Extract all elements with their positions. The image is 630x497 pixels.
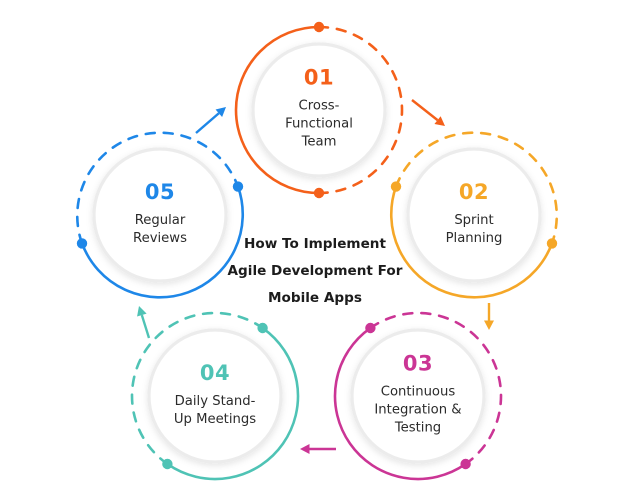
diagram-svg [0,0,630,497]
arrow-02-to-03-head [484,321,494,331]
arrow-04-to-05-head [137,306,147,317]
node-01-inner-circle [253,44,385,176]
node-04-inner-circle [149,330,281,462]
node-05-inner-circle [94,149,226,281]
node-03-dot-1 [365,323,375,333]
node-rings-group [77,22,557,479]
node-01-dot-1 [314,188,324,198]
node-04-dot-2 [257,323,267,333]
arrow-04-to-05 [137,306,149,338]
arrow-02-to-03 [484,303,494,330]
arrow-03-to-04-head [300,444,310,454]
arrow-01-to-02 [412,100,445,126]
arrow-04-to-05-shaft [142,315,149,338]
infographic-canvas: 01 Cross- Functional Team 02 Sprint Plan… [0,0,630,497]
node-02-ring [391,133,557,298]
node-02-inner-circle [408,149,540,281]
node-02-dot-1 [391,181,401,191]
arrow-03-to-04 [300,444,336,454]
node-01-ring [236,22,402,198]
node-03-ring [335,313,501,479]
node-05-ring [77,133,243,298]
node-02-dot-2 [547,238,557,248]
node-05-dot-2 [233,181,243,191]
node-03-dot-2 [460,459,470,469]
node-01-dot-2 [314,22,324,32]
arrow-05-to-01-shaft [196,113,219,133]
node-05-dot-1 [77,238,87,248]
node-03-inner-circle [352,330,484,462]
node-04-dot-1 [162,459,172,469]
arrow-01-to-02-shaft [412,100,438,120]
node-04-ring [132,313,298,479]
arrow-05-to-01 [196,107,226,133]
